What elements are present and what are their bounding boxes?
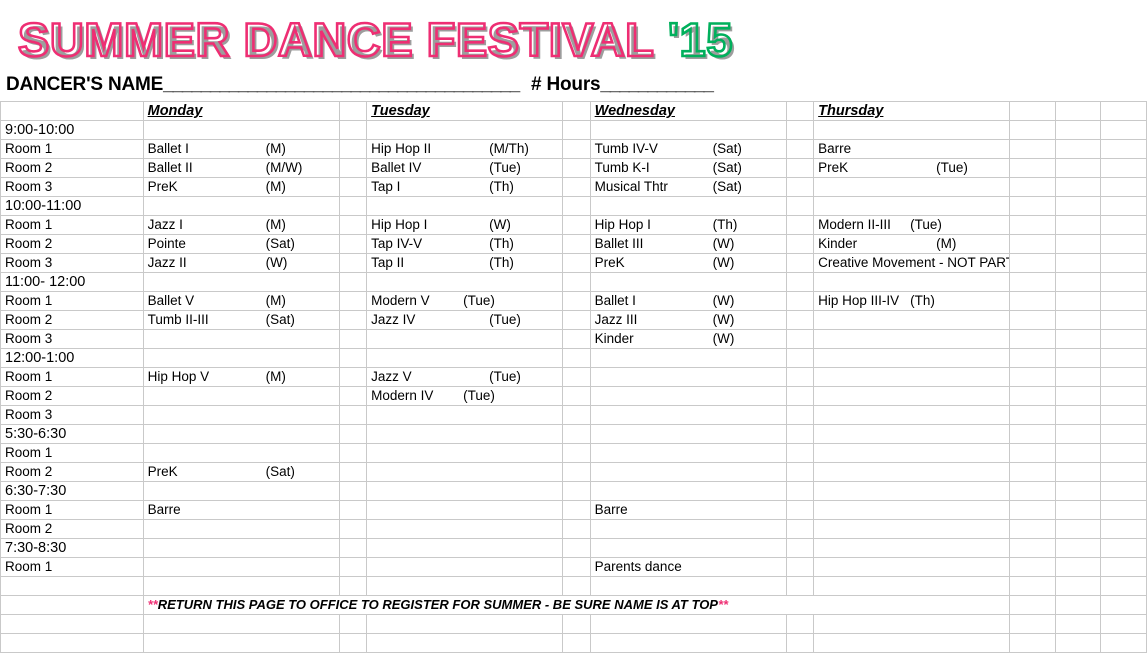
class-cell[interactable] [367,197,563,216]
grid-empty-cell[interactable] [1010,577,1056,596]
grid-empty-cell[interactable] [1101,520,1147,539]
grid-spacer-cell[interactable] [786,501,813,520]
grid-empty-cell[interactable] [1010,406,1056,425]
grid-empty-cell[interactable] [1101,368,1147,387]
grid-spacer-cell[interactable] [339,501,366,520]
grid-spacer-cell[interactable] [563,463,590,482]
time-label[interactable]: 11:00- 12:00 [1,273,144,292]
class-cell[interactable]: Ballet I(W) [590,292,786,311]
grid-empty-cell[interactable] [1055,501,1101,520]
grid-spacer-cell[interactable] [339,463,366,482]
class-cell[interactable]: Kinder(M) [814,235,1010,254]
grid-empty-cell[interactable] [1055,444,1101,463]
grid-spacer-cell[interactable] [339,140,366,159]
class-cell[interactable]: Hip Hop III-IV(Th) [814,292,1010,311]
class-cell[interactable] [814,520,1010,539]
class-cell[interactable] [590,482,786,501]
grid-empty-cell[interactable] [1101,121,1147,140]
grid-empty-cell[interactable] [1055,140,1101,159]
grid-spacer-cell[interactable] [339,615,366,634]
class-cell[interactable] [143,539,339,558]
class-cell[interactable]: Ballet V(M) [143,292,339,311]
class-cell[interactable] [590,406,786,425]
class-cell[interactable]: PreK(Sat) [143,463,339,482]
grid-spacer-cell[interactable] [563,406,590,425]
class-cell[interactable] [590,197,786,216]
grid-empty-cell[interactable] [1010,368,1056,387]
class-cell[interactable]: Ballet I(M) [143,140,339,159]
grid-spacer-cell[interactable] [563,178,590,197]
grid-empty-cell[interactable] [1101,596,1147,615]
class-cell[interactable] [590,273,786,292]
class-cell[interactable] [367,121,563,140]
grid-spacer-cell[interactable] [339,311,366,330]
grid-spacer-cell[interactable] [339,216,366,235]
grid-spacer-cell[interactable] [786,197,813,216]
class-cell[interactable] [814,387,1010,406]
grid-empty-cell[interactable] [1101,330,1147,349]
class-cell[interactable] [143,520,339,539]
grid-empty-cell[interactable] [1055,330,1101,349]
class-cell[interactable]: Hip Hop I(W) [367,216,563,235]
grid-spacer-cell[interactable] [339,368,366,387]
grid-spacer-cell[interactable] [563,577,590,596]
class-cell[interactable] [143,558,339,577]
class-cell[interactable]: PreK(M) [143,178,339,197]
grid-spacer-cell[interactable] [563,311,590,330]
grid-spacer-cell[interactable] [786,520,813,539]
grid-empty-cell[interactable] [1101,406,1147,425]
grid-empty-cell[interactable] [814,634,1010,653]
grid-empty-cell[interactable] [1101,178,1147,197]
grid-spacer-cell[interactable] [786,254,813,273]
room-label[interactable]: Room 2 [1,463,144,482]
grid-spacer-cell[interactable] [563,615,590,634]
class-cell[interactable] [590,368,786,387]
grid-empty-cell[interactable] [1010,292,1056,311]
class-cell[interactable]: PreK(Tue) [814,159,1010,178]
grid-spacer-cell[interactable] [339,425,366,444]
grid-empty-cell[interactable] [1010,330,1056,349]
room-label[interactable]: Room 2 [1,311,144,330]
day-column-header[interactable]: Thursday [814,102,1010,121]
room-label[interactable]: Room 2 [1,159,144,178]
grid-empty-cell[interactable] [1055,178,1101,197]
class-cell[interactable] [814,444,1010,463]
class-cell[interactable]: Tumb K-I(Sat) [590,159,786,178]
class-cell[interactable]: Ballet IV(Tue) [367,159,563,178]
grid-spacer-cell[interactable] [563,425,590,444]
grid-spacer-cell[interactable] [786,368,813,387]
grid-empty-cell[interactable] [1010,311,1056,330]
grid-empty-cell[interactable] [1010,349,1056,368]
class-cell[interactable] [814,121,1010,140]
grid-empty-cell[interactable] [1055,387,1101,406]
grid-spacer-cell[interactable] [786,539,813,558]
grid-empty-cell[interactable] [1101,425,1147,444]
grid-spacer-cell[interactable] [786,273,813,292]
class-cell[interactable] [814,558,1010,577]
day-column-header[interactable]: Tuesday [367,102,563,121]
grid-empty-cell[interactable] [1010,235,1056,254]
grid-empty-cell[interactable] [367,634,563,653]
grid-empty-cell[interactable] [1055,121,1101,140]
class-cell[interactable] [814,406,1010,425]
grid-spacer-cell[interactable] [339,159,366,178]
grid-empty-cell[interactable] [1010,387,1056,406]
grid-empty-cell[interactable] [1010,102,1056,121]
class-cell[interactable] [143,197,339,216]
grid-empty-cell[interactable] [1055,615,1101,634]
grid-spacer-cell[interactable] [563,558,590,577]
grid-empty-cell[interactable] [590,615,786,634]
class-cell[interactable] [367,577,563,596]
grid-spacer-cell[interactable] [339,197,366,216]
room-label[interactable]: Room 1 [1,140,144,159]
grid-empty-cell[interactable] [1055,596,1101,615]
grid-spacer-cell[interactable] [339,539,366,558]
grid-empty-cell[interactable] [1055,292,1101,311]
grid-empty-cell[interactable] [1,615,144,634]
class-cell[interactable] [590,387,786,406]
class-cell[interactable] [367,558,563,577]
grid-empty-cell[interactable] [1101,235,1147,254]
class-cell[interactable] [367,330,563,349]
grid-spacer-cell[interactable] [786,558,813,577]
class-cell[interactable]: Creative Movement - NOT PART OF THE SHOW [814,254,1010,273]
class-cell[interactable] [590,349,786,368]
grid-spacer-cell[interactable] [563,102,590,121]
grid-empty-cell[interactable] [1010,159,1056,178]
class-cell[interactable] [814,425,1010,444]
time-label[interactable]: 9:00-10:00 [1,121,144,140]
time-label[interactable]: 12:00-1:00 [1,349,144,368]
class-cell[interactable]: Tap IV-V(Th) [367,235,563,254]
grid-empty-cell[interactable] [1010,463,1056,482]
class-cell[interactable] [590,121,786,140]
grid-empty-cell[interactable] [1010,178,1056,197]
grid-spacer-cell[interactable] [563,159,590,178]
class-cell[interactable]: Modern V(Tue) [367,292,563,311]
class-cell[interactable] [367,406,563,425]
grid-spacer-cell[interactable] [339,292,366,311]
grid-empty-cell[interactable] [1010,520,1056,539]
grid-empty-cell[interactable] [1055,349,1101,368]
grid-spacer-cell[interactable] [786,159,813,178]
room-label[interactable]: Room 2 [1,235,144,254]
class-cell[interactable] [814,349,1010,368]
grid-spacer-cell[interactable] [339,577,366,596]
grid-empty-cell[interactable] [1010,444,1056,463]
grid-spacer-cell[interactable] [563,482,590,501]
class-cell[interactable] [367,273,563,292]
grid-empty-cell[interactable] [1010,615,1056,634]
grid-spacer-cell[interactable] [786,292,813,311]
grid-spacer-cell[interactable] [786,311,813,330]
grid-empty-cell[interactable] [1055,102,1101,121]
grid-spacer-cell[interactable] [786,102,813,121]
grid-empty-cell[interactable] [1101,140,1147,159]
class-cell[interactable]: Pointe(Sat) [143,235,339,254]
grid-spacer-cell[interactable] [563,330,590,349]
grid-spacer-cell[interactable] [339,387,366,406]
grid-spacer-cell[interactable] [786,444,813,463]
class-cell[interactable] [814,273,1010,292]
grid-empty-cell[interactable] [1010,273,1056,292]
grid-spacer-cell[interactable] [563,501,590,520]
room-label[interactable]: Room 1 [1,216,144,235]
grid-spacer-cell[interactable] [786,216,813,235]
grid-empty-cell[interactable] [1101,273,1147,292]
grid-empty-cell[interactable] [367,615,563,634]
grid-spacer-cell[interactable] [563,349,590,368]
grid-empty-cell[interactable] [590,634,786,653]
dancer-name-blank[interactable]: ______________________________________ [163,74,519,95]
class-cell[interactable] [367,444,563,463]
grid-empty-cell[interactable] [1055,425,1101,444]
grid-spacer-cell[interactable] [339,273,366,292]
class-cell[interactable]: PreK(W) [590,254,786,273]
grid-empty-cell[interactable] [1010,634,1056,653]
grid-spacer-cell[interactable] [339,444,366,463]
class-cell[interactable] [367,539,563,558]
class-cell[interactable]: Parents dance [590,558,786,577]
class-cell[interactable]: Tumb II-III(Sat) [143,311,339,330]
grid-spacer-cell[interactable] [563,216,590,235]
grid-spacer-cell[interactable] [339,406,366,425]
class-cell[interactable]: Kinder(W) [590,330,786,349]
class-cell[interactable]: Modern IV(Tue) [367,387,563,406]
class-cell[interactable]: Tumb IV-V(Sat) [590,140,786,159]
grid-empty-cell[interactable] [1055,520,1101,539]
class-cell[interactable]: Barre [814,140,1010,159]
class-cell[interactable] [143,577,339,596]
grid-empty-cell[interactable] [1101,482,1147,501]
class-cell[interactable] [814,368,1010,387]
grid-empty-cell[interactable] [1010,254,1056,273]
day-column-header[interactable]: Monday [143,102,339,121]
grid-spacer-cell[interactable] [339,634,366,653]
grid-empty-cell[interactable] [1101,463,1147,482]
grid-spacer-cell[interactable] [786,178,813,197]
grid-spacer-cell[interactable] [786,387,813,406]
grid-empty-cell[interactable] [143,634,339,653]
grid-empty-cell[interactable] [1101,539,1147,558]
class-cell[interactable] [814,577,1010,596]
grid-empty-cell[interactable] [1101,311,1147,330]
class-cell[interactable] [814,197,1010,216]
grid-empty-cell[interactable] [1055,216,1101,235]
grid-spacer-cell[interactable] [339,482,366,501]
hours-blank[interactable]: ____________ [600,74,712,95]
class-cell[interactable]: Ballet III(W) [590,235,786,254]
class-cell[interactable] [143,121,339,140]
grid-empty-cell[interactable] [1010,216,1056,235]
room-label[interactable]: Room 1 [1,292,144,311]
class-cell[interactable] [367,520,563,539]
grid-empty-cell[interactable] [1010,539,1056,558]
class-cell[interactable] [814,463,1010,482]
grid-spacer-cell[interactable] [786,330,813,349]
class-cell[interactable] [814,311,1010,330]
grid-spacer-cell[interactable] [563,520,590,539]
grid-empty-cell[interactable] [1055,368,1101,387]
grid-spacer-cell[interactable] [563,121,590,140]
grid-spacer-cell[interactable] [563,634,590,653]
class-cell[interactable] [367,463,563,482]
class-cell[interactable]: Jazz II(W) [143,254,339,273]
time-label[interactable]: 6:30-7:30 [1,482,144,501]
grid-empty-cell[interactable] [1010,501,1056,520]
grid-empty-cell[interactable] [1101,634,1147,653]
grid-empty-cell[interactable] [1101,216,1147,235]
class-cell[interactable] [367,349,563,368]
room-label[interactable]: Room 1 [1,501,144,520]
grid-spacer-cell[interactable] [563,292,590,311]
grid-spacer-cell[interactable] [339,520,366,539]
grid-empty-cell[interactable] [1010,197,1056,216]
class-cell[interactable]: Musical Thtr(Sat) [590,178,786,197]
room-label[interactable]: Room 1 [1,558,144,577]
grid-spacer-cell[interactable] [786,425,813,444]
class-cell[interactable]: Hip Hop V(M) [143,368,339,387]
grid-empty-cell[interactable] [1101,102,1147,121]
grid-empty-cell[interactable] [1,634,144,653]
grid-spacer-cell[interactable] [339,330,366,349]
grid-empty-cell[interactable] [1101,577,1147,596]
grid-spacer-cell[interactable] [786,140,813,159]
grid-spacer-cell[interactable] [339,102,366,121]
grid-spacer-cell[interactable] [786,615,813,634]
grid-spacer-cell[interactable] [339,254,366,273]
grid-spacer-cell[interactable] [339,235,366,254]
grid-spacer-cell[interactable] [786,482,813,501]
grid-spacer-cell[interactable] [339,178,366,197]
grid-spacer-cell[interactable] [563,254,590,273]
grid-empty-cell[interactable] [1055,482,1101,501]
class-cell[interactable] [590,425,786,444]
grid-spacer-cell[interactable] [786,577,813,596]
time-label[interactable]: 7:30-8:30 [1,539,144,558]
grid-spacer-cell[interactable] [563,387,590,406]
grid-spacer-cell[interactable] [563,273,590,292]
room-label[interactable]: Room 3 [1,330,144,349]
grid-empty-cell[interactable] [814,615,1010,634]
class-cell[interactable] [590,520,786,539]
grid-empty-cell[interactable] [1055,311,1101,330]
class-cell[interactable]: Tap I(Th) [367,178,563,197]
grid-spacer-cell[interactable] [786,406,813,425]
class-cell[interactable] [590,539,786,558]
room-label[interactable]: Room 1 [1,444,144,463]
grid-empty-cell[interactable] [1010,596,1056,615]
class-cell[interactable]: Jazz I(M) [143,216,339,235]
class-cell[interactable]: Barre [590,501,786,520]
grid-empty-cell[interactable] [1101,501,1147,520]
grid-empty-cell[interactable] [1055,463,1101,482]
grid-spacer-cell[interactable] [563,368,590,387]
class-cell[interactable]: Tap II(Th) [367,254,563,273]
room-label[interactable] [1,577,144,596]
class-cell[interactable]: Jazz V(Tue) [367,368,563,387]
grid-empty-cell[interactable] [1101,349,1147,368]
grid-spacer-cell[interactable] [563,197,590,216]
class-cell[interactable]: Modern II-III(Tue) [814,216,1010,235]
grid-empty-cell[interactable] [1101,292,1147,311]
grid-empty-cell[interactable] [1055,406,1101,425]
class-cell[interactable]: Jazz III(W) [590,311,786,330]
grid-empty-cell[interactable] [1,596,144,615]
grid-spacer-cell[interactable] [786,463,813,482]
grid-spacer-cell[interactable] [339,121,366,140]
class-cell[interactable] [143,425,339,444]
grid-empty-cell[interactable] [1101,159,1147,178]
grid-empty-cell[interactable] [1101,444,1147,463]
grid-spacer-cell[interactable] [563,235,590,254]
room-label[interactable] [1,102,144,121]
grid-empty-cell[interactable] [1055,634,1101,653]
class-cell[interactable] [814,330,1010,349]
grid-empty-cell[interactable] [1055,197,1101,216]
grid-empty-cell[interactable] [1055,273,1101,292]
room-label[interactable]: Room 3 [1,406,144,425]
grid-spacer-cell[interactable] [339,349,366,368]
grid-spacer-cell[interactable] [563,444,590,463]
class-cell[interactable] [814,501,1010,520]
grid-empty-cell[interactable] [1101,254,1147,273]
class-cell[interactable] [143,444,339,463]
grid-empty-cell[interactable] [1010,121,1056,140]
class-cell[interactable] [590,444,786,463]
class-cell[interactable] [814,539,1010,558]
class-cell[interactable] [143,387,339,406]
room-label[interactable]: Room 3 [1,254,144,273]
room-label[interactable]: Room 2 [1,387,144,406]
grid-empty-cell[interactable] [1010,140,1056,159]
room-label[interactable]: Room 3 [1,178,144,197]
room-label[interactable]: Room 1 [1,368,144,387]
grid-empty-cell[interactable] [143,615,339,634]
grid-spacer-cell[interactable] [786,634,813,653]
class-cell[interactable]: Hip Hop II(M/Th) [367,140,563,159]
grid-empty-cell[interactable] [1101,558,1147,577]
class-cell[interactable]: Jazz IV(Tue) [367,311,563,330]
class-cell[interactable] [590,577,786,596]
day-column-header[interactable]: Wednesday [590,102,786,121]
grid-spacer-cell[interactable] [563,140,590,159]
grid-spacer-cell[interactable] [786,235,813,254]
grid-empty-cell[interactable] [1101,197,1147,216]
class-cell[interactable] [814,482,1010,501]
grid-spacer-cell[interactable] [786,121,813,140]
grid-empty-cell[interactable] [1055,159,1101,178]
class-cell[interactable] [143,406,339,425]
class-cell[interactable]: Hip Hop I(Th) [590,216,786,235]
grid-empty-cell[interactable] [1055,254,1101,273]
time-label[interactable]: 5:30-6:30 [1,425,144,444]
class-cell[interactable] [367,482,563,501]
grid-empty-cell[interactable] [1010,425,1056,444]
grid-empty-cell[interactable] [1055,577,1101,596]
class-cell[interactable] [143,273,339,292]
class-cell[interactable] [590,463,786,482]
time-label[interactable]: 10:00-11:00 [1,197,144,216]
class-cell[interactable] [143,482,339,501]
class-cell[interactable] [143,330,339,349]
class-cell[interactable] [367,425,563,444]
grid-empty-cell[interactable] [1101,387,1147,406]
class-cell[interactable] [143,349,339,368]
